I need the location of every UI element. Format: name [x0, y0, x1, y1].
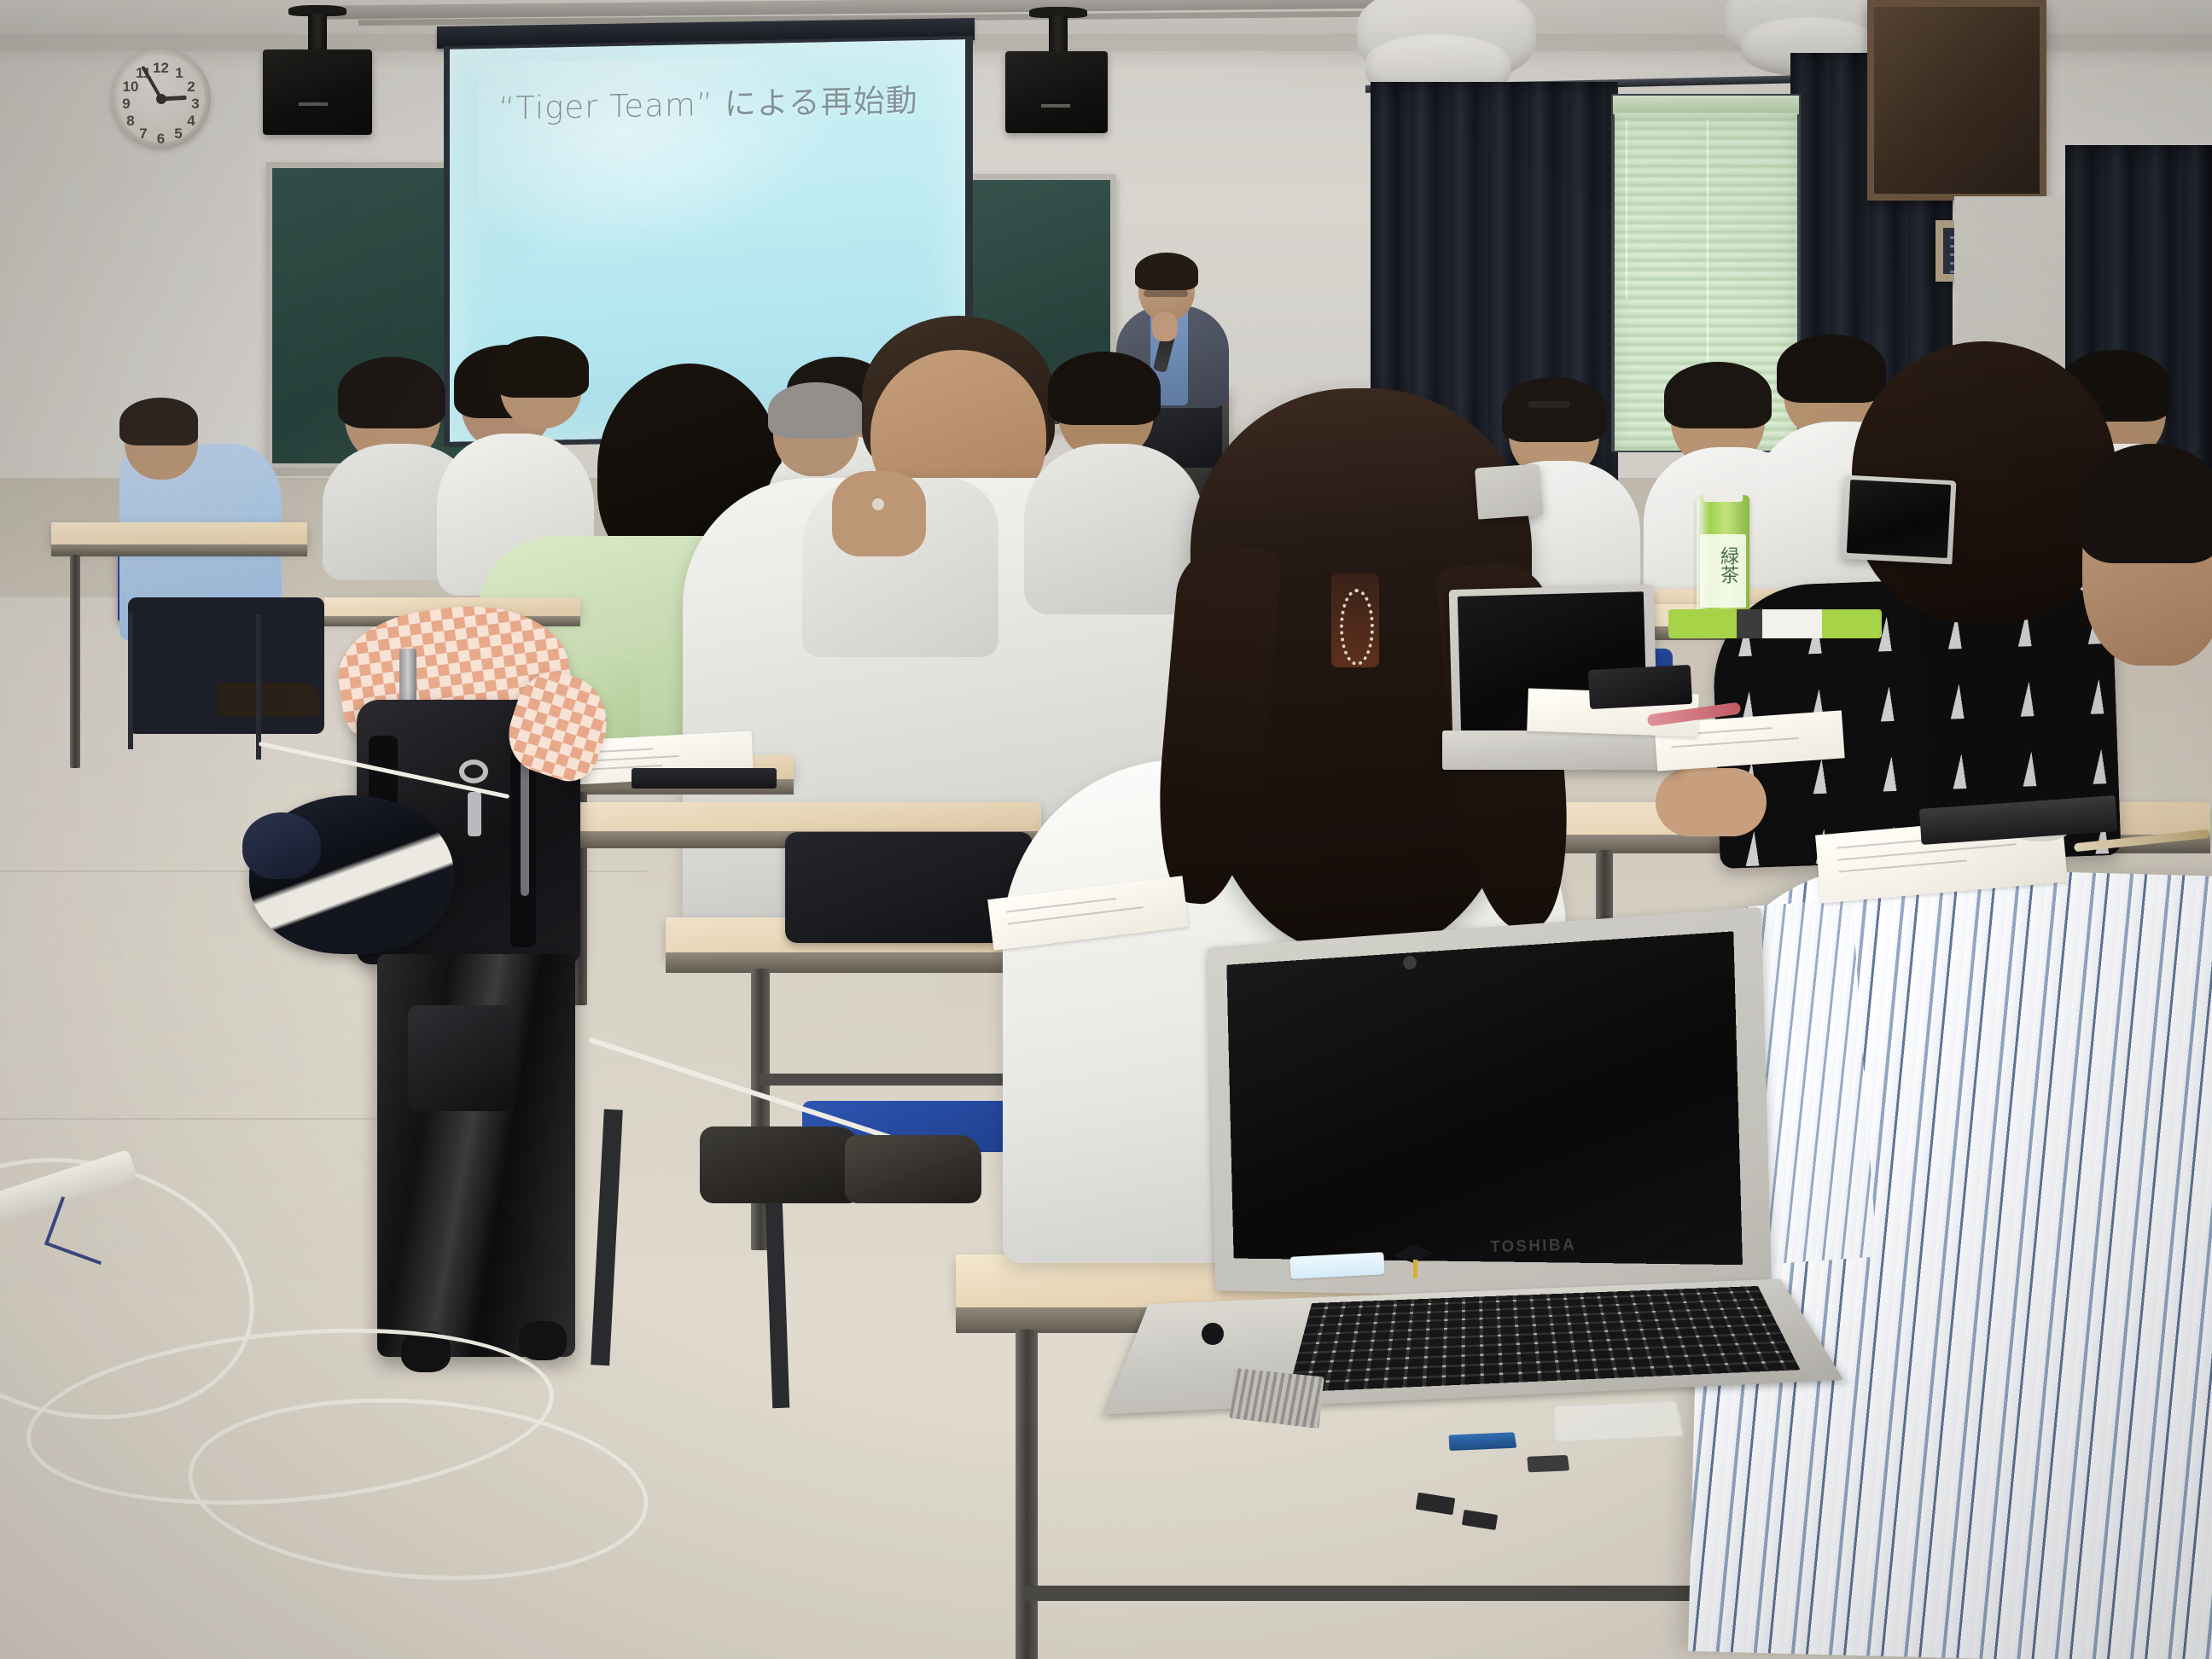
laptop-touchpad	[1553, 1400, 1685, 1442]
clock-numeral-5: 5	[170, 125, 187, 143]
person-a9-hair	[1502, 377, 1606, 442]
speaker-enclosure	[263, 49, 372, 135]
projector-remote	[1588, 665, 1692, 709]
bottle-cap	[1703, 483, 1743, 502]
backpack-clip	[468, 792, 481, 836]
ceiling-speaker-right	[1005, 7, 1111, 143]
bottle-label-text: 緑茶	[1708, 546, 1738, 584]
clock-numeral-3: 3	[187, 96, 204, 113]
ring	[872, 498, 884, 510]
speaker-enclosure	[1005, 51, 1108, 133]
sticker-tassel	[1413, 1260, 1417, 1278]
desk-edge	[51, 544, 307, 556]
lecture-room-photo: 12 1 2 3 4 5 6 7 8 9 10 11	[0, 0, 2212, 1659]
wall-clock: 12 1 2 3 4 5 6 7 8 9 10 11	[111, 49, 211, 148]
presenter-hair	[1135, 253, 1198, 290]
presenter-hand	[1152, 312, 1178, 341]
blinds-headrail	[1613, 96, 1799, 114]
pencil-case	[632, 768, 777, 789]
person-a9c-hair	[1777, 335, 1886, 403]
person-shoe	[700, 1126, 862, 1203]
clock-centre-cap	[156, 94, 166, 104]
speaker-brand-strip	[1041, 104, 1070, 108]
person-a7-arm	[1656, 768, 1767, 836]
person-a10-hair	[1048, 352, 1161, 425]
clock-numeral-8: 8	[122, 113, 139, 130]
ceiling-speaker-left	[263, 5, 372, 142]
person-a9b-hair	[1664, 362, 1772, 428]
laptop-lid-back-left	[1475, 463, 1543, 519]
clock-face: 12 1 2 3 4 5 6 7 8 9 10 11	[117, 55, 205, 143]
text-line	[1839, 859, 1967, 872]
suitcase-pocket	[408, 1005, 514, 1111]
chair-leg	[256, 614, 261, 760]
backpack-d-ring	[459, 760, 488, 783]
text-line	[585, 755, 679, 762]
hair-accessory-beads	[1340, 589, 1374, 666]
clock-numeral-12: 12	[153, 60, 170, 77]
slide-title-text: “Tiger Team” による再始動	[461, 73, 956, 129]
glasses	[1528, 401, 1570, 408]
speaker-mount-stem	[1049, 15, 1068, 55]
laptop-display	[1226, 931, 1743, 1265]
clock-numeral-9: 9	[118, 96, 135, 113]
webcam-icon	[1403, 956, 1417, 969]
bottle-tray	[1668, 609, 1882, 638]
person-shoe	[845, 1135, 981, 1203]
wooden-wall-panel	[1867, 0, 2046, 201]
person-a8-hair	[2079, 444, 2212, 563]
presenter-glasses	[1144, 290, 1188, 297]
person-a2-hair	[338, 357, 445, 428]
clock-numeral-6: 6	[153, 131, 170, 148]
desk-leg	[1016, 1330, 1038, 1659]
person-a1-hair	[119, 398, 198, 445]
backpack-zip	[521, 760, 529, 896]
person-a1-shoe	[218, 683, 320, 717]
text-line	[1671, 737, 1799, 748]
speaker-mount-stem	[308, 14, 327, 53]
laptop-fingerprint-reader	[1527, 1455, 1569, 1472]
chair-leg	[128, 613, 133, 749]
person-a3b-hair	[493, 336, 589, 398]
laptop-display-far-right	[1847, 480, 1951, 558]
laptop-brand-label: TOSHIBA	[1490, 1237, 1576, 1258]
text-line	[1006, 898, 1116, 913]
clock-numeral-2: 2	[183, 79, 200, 96]
laptop-audio-jack	[1202, 1323, 1224, 1345]
laptop-palmrest-sticker	[1448, 1432, 1516, 1451]
blinds-cord	[1626, 119, 1627, 299]
cap	[242, 812, 321, 879]
speaker-brand-strip	[299, 102, 328, 106]
laptop-base-mid	[1442, 731, 1681, 770]
desk-leg	[70, 555, 80, 768]
person-a5-hand	[832, 471, 926, 556]
person-grey-hair	[768, 382, 864, 439]
suitcase-wheel	[519, 1321, 567, 1360]
laptop-vent	[1229, 1368, 1324, 1429]
